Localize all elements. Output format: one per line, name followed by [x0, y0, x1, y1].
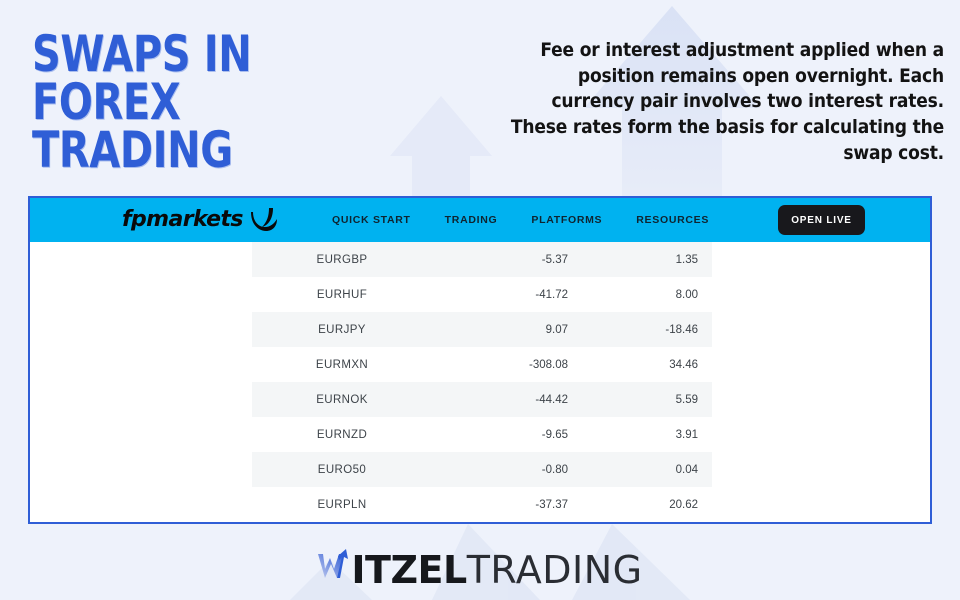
cell-swap-short: 8.00 [582, 277, 712, 312]
cell-swap-short: 1.35 [582, 242, 712, 277]
nav-item-trading[interactable]: TRADING [445, 214, 498, 226]
cell-swap-long: 9.07 [432, 312, 582, 347]
cell-swap-short: -18.46 [582, 312, 712, 347]
cell-swap-long: -0.80 [432, 452, 582, 487]
page-title: SWAPS IN FOREX TRADING [32, 30, 368, 174]
cell-swap-long: -308.08 [432, 347, 582, 382]
table-row[interactable]: EURHUF -41.72 8.00 [252, 277, 712, 312]
cell-symbol: EURMXN [252, 347, 432, 382]
table-row[interactable]: EURO50 -0.80 0.04 [252, 452, 712, 487]
open-live-label: OPEN LIVE [791, 215, 852, 226]
cell-swap-short: 34.46 [582, 347, 712, 382]
sail-swoosh-icon [248, 207, 278, 233]
cell-swap-long: -44.42 [432, 382, 582, 417]
logo-text-light: TRADING [467, 551, 643, 589]
cell-swap-long: -41.72 [432, 277, 582, 312]
nav-item-quick-start[interactable]: QUICK START [332, 214, 411, 226]
arrow-up-w-icon [317, 545, 351, 583]
swap-table-container[interactable]: EURGBP -5.37 1.35 EURHUF -41.72 8.00 EUR… [252, 242, 712, 524]
cell-symbol: EURGBP [252, 242, 432, 277]
table-row[interactable]: EURNOK -44.42 5.59 [252, 382, 712, 417]
cell-symbol: EURPLN [252, 487, 432, 522]
cell-swap-short: 5.59 [582, 382, 712, 417]
cell-symbol: EURHUF [252, 277, 432, 312]
cell-symbol: EURO50 [252, 452, 432, 487]
table-row[interactable]: EURNZD -9.65 3.91 [252, 417, 712, 452]
table-row[interactable]: EURGBP -5.37 1.35 [252, 242, 712, 277]
page-description: Fee or interest adjustment applied when … [507, 38, 944, 166]
witzel-trading-logo: ITZEL TRADING [317, 545, 642, 589]
brand-name: fpmarkets [122, 207, 243, 232]
cell-symbol: EURJPY [252, 312, 432, 347]
brand-logo[interactable]: fpmarkets [122, 205, 278, 233]
cell-swap-short: 0.04 [582, 452, 712, 487]
site-navbar: fpmarkets QUICK START TRADING PLATFORMS … [30, 198, 930, 242]
cell-swap-long: -37.37 [432, 487, 582, 522]
nav-item-platforms[interactable]: PLATFORMS [531, 214, 602, 226]
broker-site-card: fpmarkets QUICK START TRADING PLATFORMS … [28, 196, 932, 524]
table-bottom-edge [252, 522, 712, 524]
logo-text-bold: ITZEL [351, 551, 466, 589]
swap-table-body: EURGBP -5.37 1.35 EURHUF -41.72 8.00 EUR… [252, 242, 712, 522]
table-row[interactable]: EURPLN -37.37 20.62 [252, 487, 712, 522]
cell-swap-long: -5.37 [432, 242, 582, 277]
open-live-button[interactable]: OPEN LIVE [778, 205, 865, 235]
page-header: SWAPS IN FOREX TRADING Fee or interest a… [0, 0, 960, 192]
cell-swap-short: 3.91 [582, 417, 712, 452]
table-row[interactable]: EURJPY 9.07 -18.46 [252, 312, 712, 347]
table-row[interactable]: EURMXN -308.08 34.46 [252, 347, 712, 382]
cell-swap-short: 20.62 [582, 487, 712, 522]
swap-rates-table: EURGBP -5.37 1.35 EURHUF -41.72 8.00 EUR… [252, 242, 712, 522]
footer: ITZEL TRADING [0, 534, 960, 600]
cell-swap-long: -9.65 [432, 417, 582, 452]
cell-symbol: EURNOK [252, 382, 432, 417]
cell-symbol: EURNZD [252, 417, 432, 452]
nav-item-resources[interactable]: RESOURCES [636, 214, 709, 226]
primary-nav: QUICK START TRADING PLATFORMS RESOURCES [332, 198, 709, 242]
